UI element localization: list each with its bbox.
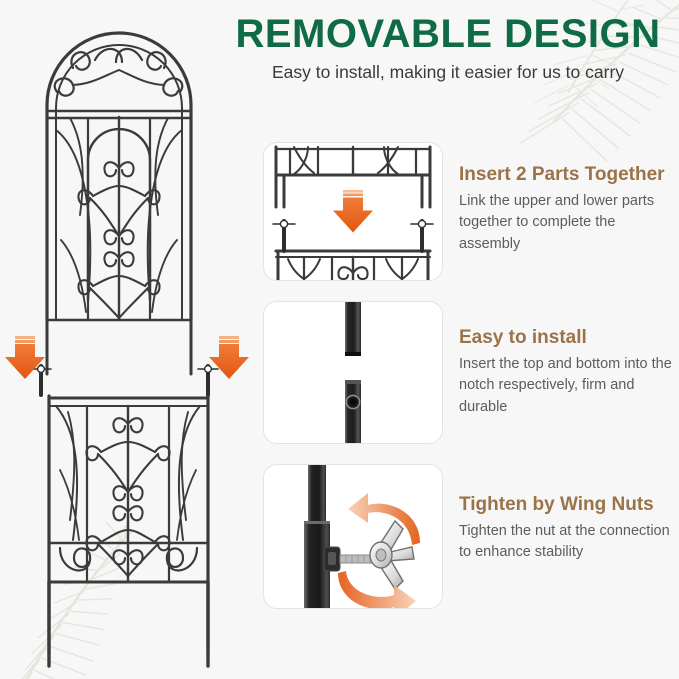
feature-heading: Tighten by Wing Nuts — [459, 494, 673, 516]
feature-text-insert-2-parts: Insert 2 Parts Together Link the upper a… — [443, 142, 673, 255]
wing-nut-icon — [370, 521, 414, 589]
figure-insert-2-parts — [263, 142, 443, 281]
page-title: REMOVABLE DESIGN — [222, 14, 674, 56]
figure-tighten-wing-nuts — [263, 464, 443, 609]
pole-lower-segment — [345, 380, 361, 443]
pole-upper-segment — [345, 302, 361, 356]
feature-item-tighten-wing-nuts: Tighten by Wing Nuts Tighten the nut at … — [263, 464, 673, 609]
feature-text-tighten-wing-nuts: Tighten by Wing Nuts Tighten the nut at … — [443, 464, 673, 564]
product-illustration-trellis — [0, 0, 250, 679]
trellis-lower-panel — [49, 396, 208, 666]
figure-easy-to-install — [263, 301, 443, 444]
feature-heading: Easy to install — [459, 327, 673, 349]
feature-text-easy-to-install: Easy to install Insert the top and botto… — [443, 301, 673, 418]
header: REMOVABLE DESIGN Easy to install, making… — [222, 14, 674, 83]
feature-body: Link the upper and lower parts together … — [459, 191, 673, 255]
feature-item-insert-2-parts: Insert 2 Parts Together Link the upper a… — [263, 142, 673, 281]
feature-body: Insert the top and bottom into the notch… — [459, 354, 673, 418]
down-arrow-icon — [333, 190, 373, 233]
pole-upper — [308, 465, 326, 525]
assembly-arrow-right — [209, 336, 249, 379]
rotate-arrow-down-icon — [338, 571, 416, 608]
feature-item-easy-to-install: Easy to install Insert the top and botto… — [263, 301, 673, 444]
feature-body: Tighten the nut at the connection to enh… — [459, 521, 673, 564]
connector-pin-right — [198, 366, 218, 395]
trellis-upper-panel — [47, 33, 191, 374]
feature-heading: Insert 2 Parts Together — [459, 164, 673, 186]
infographic-page: REMOVABLE DESIGN Easy to install, making… — [0, 0, 679, 679]
page-subtitle: Easy to install, making it easier for us… — [222, 62, 674, 83]
feature-list: Insert 2 Parts Together Link the upper a… — [263, 142, 673, 629]
